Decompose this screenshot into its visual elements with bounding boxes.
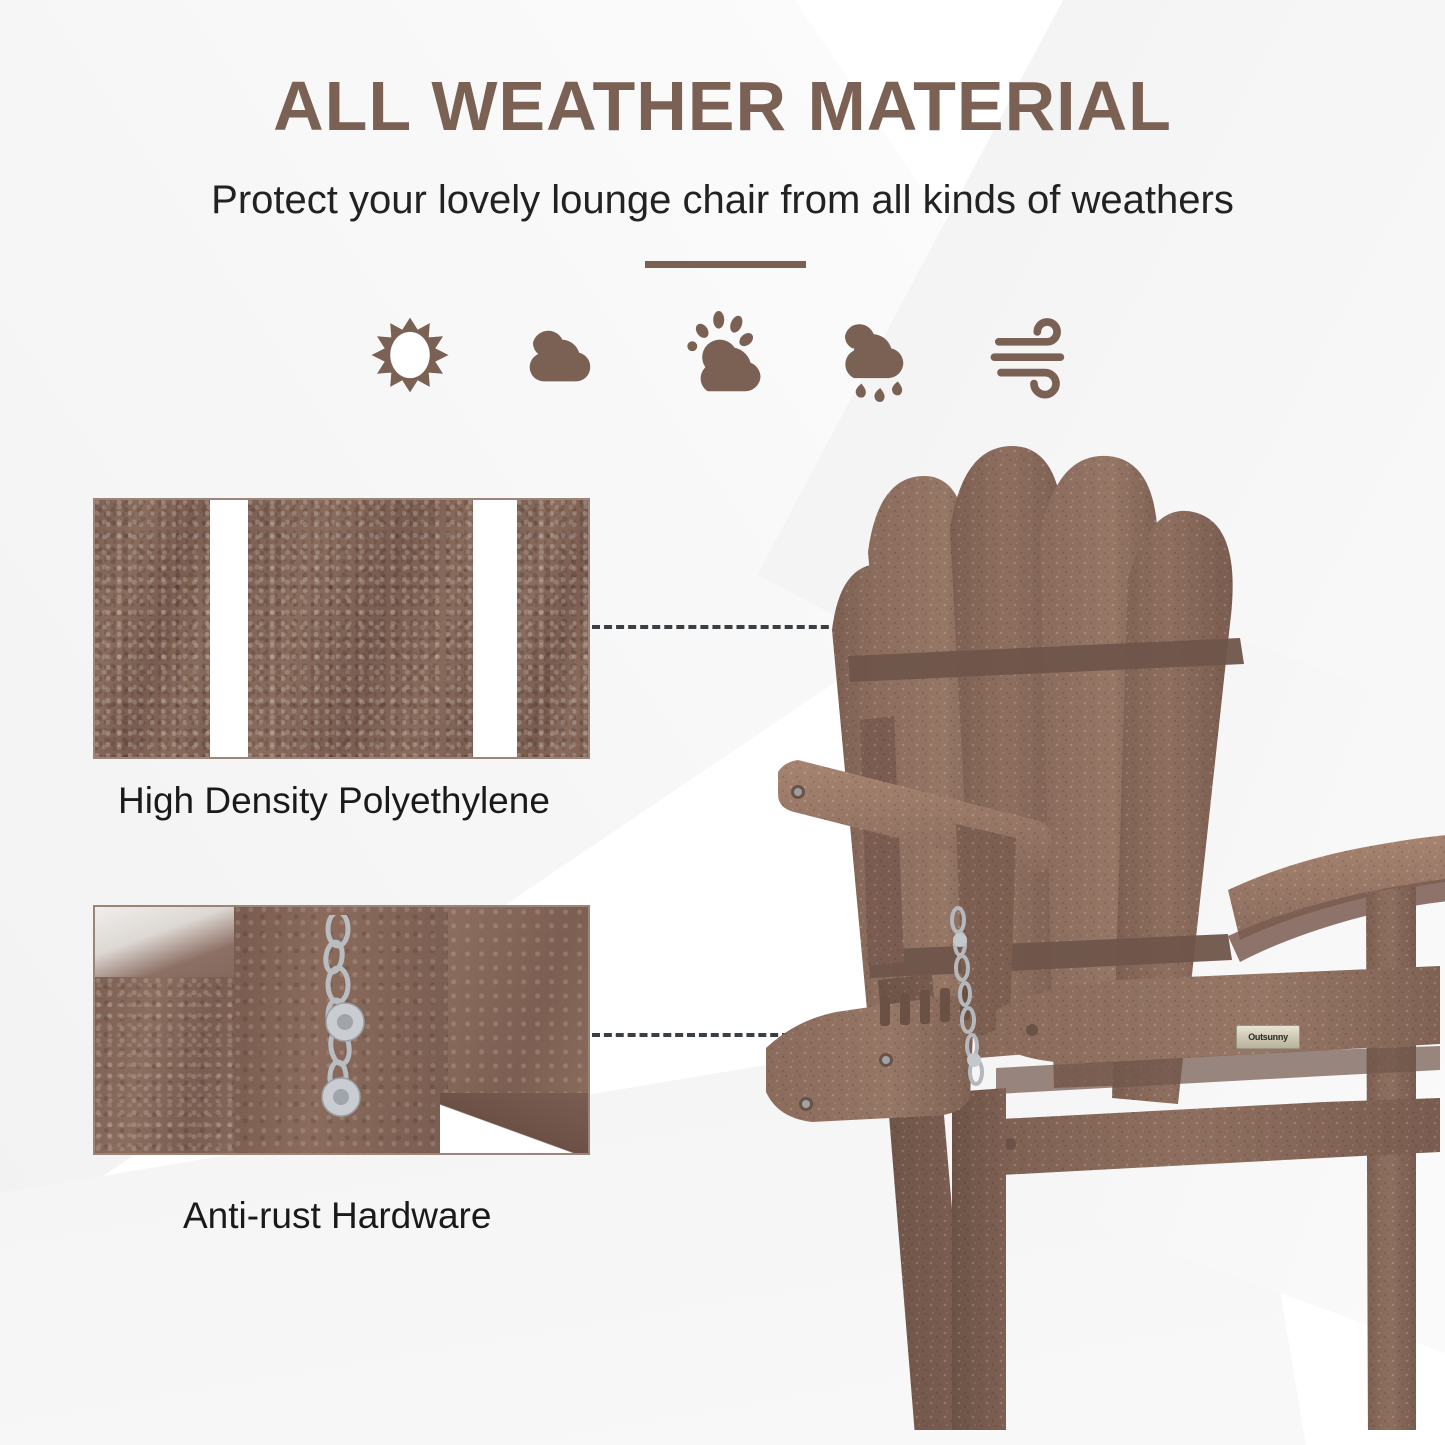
chain-bolt <box>967 1053 981 1067</box>
chain-bolt <box>953 933 967 947</box>
feature-image-hardware <box>93 905 590 1155</box>
page-title: ALL WEATHER MATERIAL <box>0 66 1445 146</box>
hardware-board-left <box>95 977 240 1155</box>
partly-cloudy-icon <box>667 300 777 410</box>
sun-icon <box>355 300 465 410</box>
hdpe-slat <box>248 500 473 757</box>
feature-caption-hardware: Anti-rust Hardware <box>183 1195 491 1237</box>
cloud-icon <box>511 300 621 410</box>
infographic-stage: ALL WEATHER MATERIAL Protect your lovely… <box>0 0 1445 1445</box>
rain-cloud-icon <box>823 300 933 410</box>
hdpe-slat <box>95 500 210 757</box>
hardware-board-right <box>448 907 590 1097</box>
chair-left-front-leg <box>952 1088 1006 1430</box>
steel-chain-icon <box>300 915 380 1141</box>
feature-image-hdpe <box>93 498 590 759</box>
hdpe-gap <box>210 500 248 757</box>
adirondack-chair-photo <box>760 420 1445 1430</box>
hardware-board-lower-right <box>440 1093 590 1155</box>
weather-icon-row <box>355 300 1090 410</box>
feature-caption-hdpe: High Density Polyethylene <box>118 780 550 822</box>
hdpe-slat <box>517 500 590 757</box>
title-divider <box>645 261 806 268</box>
hdpe-gap <box>473 500 517 757</box>
page-subtitle: Protect your lovely lounge chair from al… <box>0 178 1445 223</box>
wind-icon <box>979 300 1089 410</box>
brand-plate: Outsunny <box>1236 1025 1300 1049</box>
